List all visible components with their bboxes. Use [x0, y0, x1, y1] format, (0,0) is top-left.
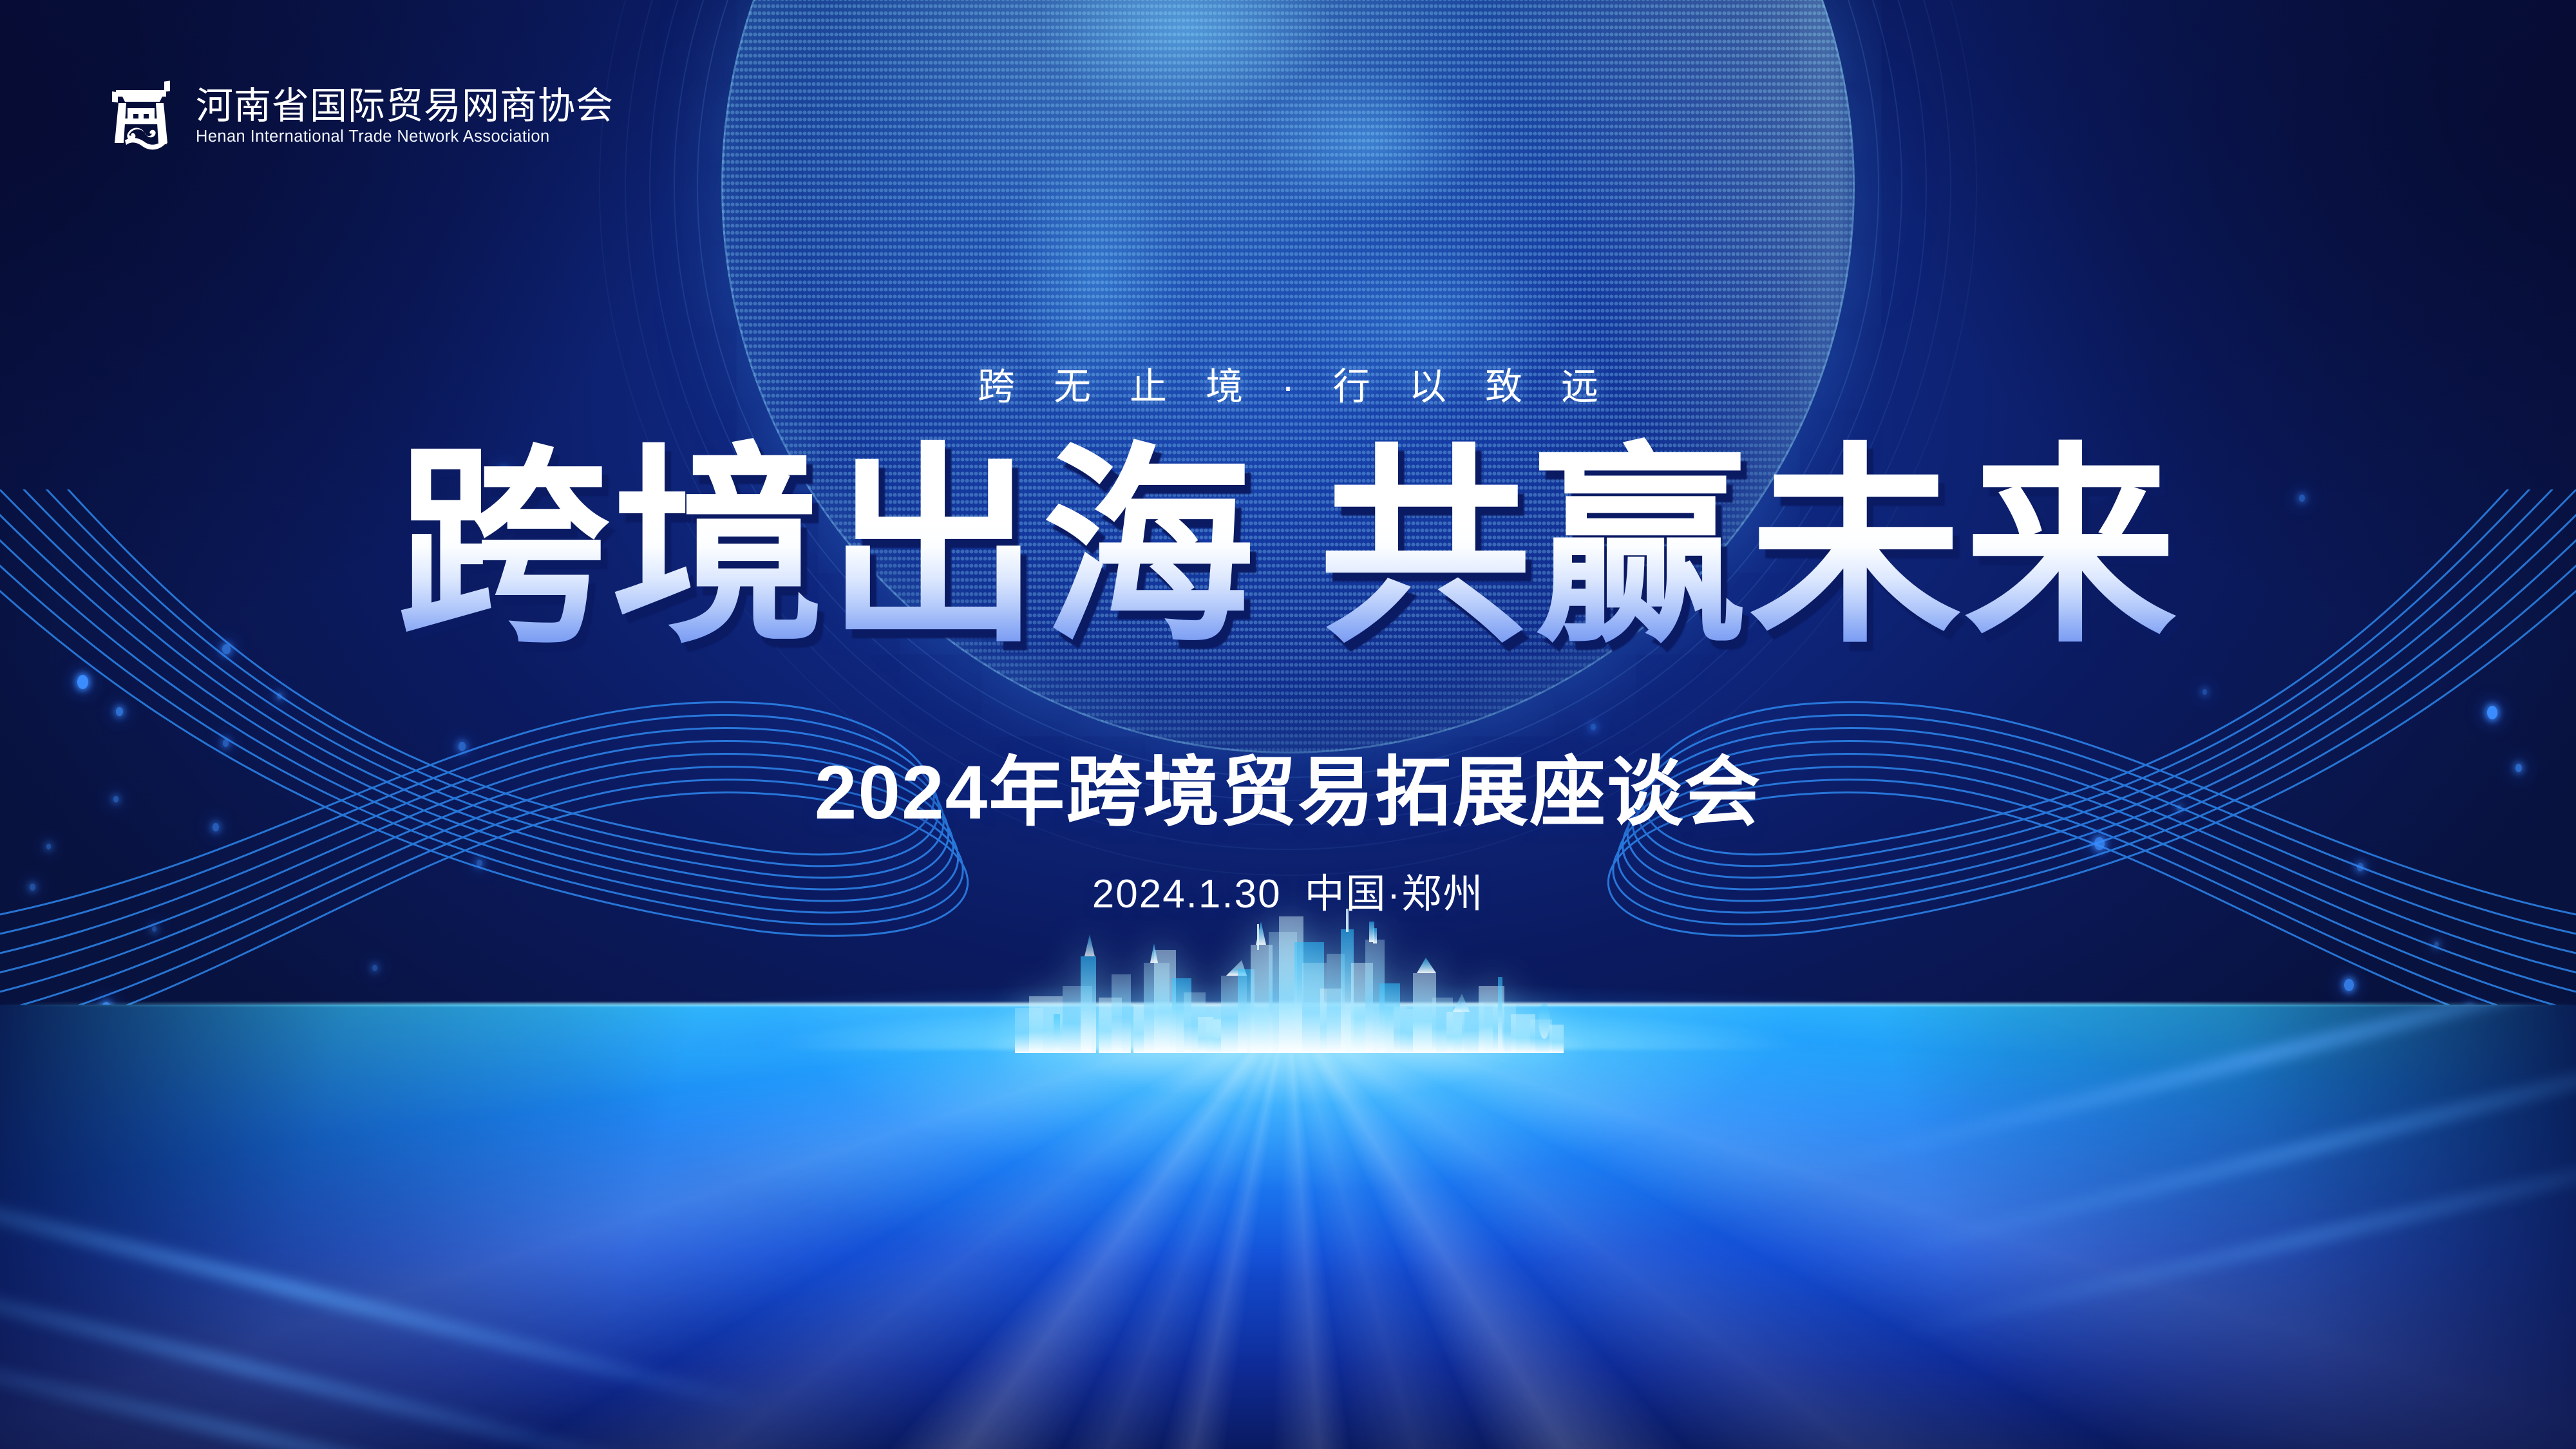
- logo-name-cn: 河南省国际贸易网商协会: [196, 88, 614, 125]
- headline-part-2: 共赢未来 共赢未来: [1319, 425, 2179, 672]
- headline-part-1: 跨境出海 跨境出海: [397, 425, 1257, 672]
- event-dateline: 2024.1.30中国·郑州: [0, 875, 2576, 914]
- hero-tagline: 跨 无 止 境 · 行 以 致 远: [0, 368, 2576, 406]
- poster-stage: 河南省国际贸易网商协会 Henan International Trade Ne…: [0, 0, 2576, 1449]
- seal-script-shang-wave-icon: [103, 79, 179, 155]
- association-logo[interactable]: 河南省国际贸易网商协会 Henan International Trade Ne…: [103, 79, 614, 155]
- event-location: 中国·郑州: [1305, 872, 1484, 916]
- logo-name-en: Henan International Trade Network Associ…: [196, 129, 614, 146]
- hero-headline: 跨境出海 跨境出海 共赢未来 共赢未来: [0, 425, 2576, 672]
- headline-part-1-fill: 跨境出海: [397, 429, 1257, 667]
- headline-part-2-fill: 共赢未来: [1319, 429, 2179, 667]
- event-subtitle: 2024年跨境贸易拓展座谈会: [0, 755, 2576, 831]
- ground-corner-shade: [0, 1005, 2576, 1449]
- event-date: 2024.1.30: [1092, 872, 1282, 916]
